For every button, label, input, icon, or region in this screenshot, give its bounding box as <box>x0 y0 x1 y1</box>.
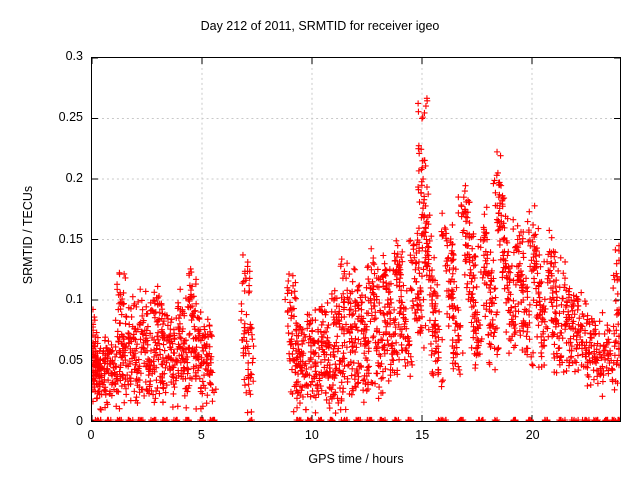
data-point-marker <box>361 399 367 405</box>
data-point-marker <box>355 288 361 294</box>
data-point-marker <box>449 222 455 228</box>
data-point-marker <box>292 288 298 294</box>
data-point-marker <box>479 417 485 421</box>
data-point-marker <box>457 371 463 377</box>
data-point-marker <box>497 242 503 248</box>
data-point-marker <box>246 350 252 356</box>
data-point-marker <box>464 215 470 221</box>
data-point-marker <box>324 335 330 341</box>
data-point-marker <box>183 405 189 411</box>
data-point-marker <box>443 268 449 274</box>
data-point-marker <box>388 300 394 306</box>
data-point-marker <box>575 367 581 373</box>
data-point-marker <box>490 180 496 186</box>
data-point-marker <box>294 405 300 411</box>
data-point-marker <box>495 228 501 234</box>
data-point-marker <box>427 317 433 323</box>
data-point-marker <box>105 417 111 421</box>
data-point-marker <box>419 115 425 121</box>
data-point-marker <box>492 285 498 291</box>
data-point-marker <box>462 188 468 194</box>
data-point-marker <box>349 372 355 378</box>
data-point-marker <box>350 279 356 285</box>
data-point-marker <box>415 100 421 106</box>
data-point-marker <box>196 315 202 321</box>
data-point-marker <box>492 295 498 301</box>
data-point-marker <box>420 176 426 182</box>
data-point-marker <box>436 309 442 315</box>
data-point-marker <box>241 331 247 337</box>
data-point-marker <box>245 409 251 415</box>
data-point-marker <box>573 359 579 365</box>
data-point-marker <box>612 247 618 253</box>
data-point-marker <box>102 334 108 340</box>
data-point-marker <box>432 317 438 323</box>
data-point-marker <box>116 271 122 277</box>
data-point-marker <box>487 289 493 295</box>
data-point-marker <box>355 284 361 290</box>
data-point-marker <box>114 281 120 287</box>
y-axis-label: SRMTID / TECUs <box>21 155 35 315</box>
data-point-marker <box>531 276 537 282</box>
data-point-marker <box>551 341 557 347</box>
data-point-marker <box>507 270 513 276</box>
data-point-marker <box>524 288 530 294</box>
data-point-marker <box>592 322 598 328</box>
y-tick-label: 0 <box>13 414 83 428</box>
data-point-marker <box>458 202 464 208</box>
data-point-marker <box>591 367 597 373</box>
data-point-marker <box>536 364 542 370</box>
data-point-marker <box>530 362 536 368</box>
data-point-marker <box>369 279 375 285</box>
data-point-marker <box>202 385 208 391</box>
data-point-marker <box>372 303 378 309</box>
data-point-marker <box>533 302 539 308</box>
data-point-marker <box>527 237 533 243</box>
data-point-marker <box>578 290 584 296</box>
data-point-marker <box>249 336 255 342</box>
data-point-marker <box>248 409 254 415</box>
data-point-marker <box>243 311 249 317</box>
data-point-marker <box>97 406 103 412</box>
data-point-marker <box>526 209 532 215</box>
data-point-marker <box>396 357 402 363</box>
data-point-marker <box>170 391 176 397</box>
data-point-marker <box>113 317 119 323</box>
data-point-marker <box>285 323 291 329</box>
data-point-marker <box>352 267 358 273</box>
data-point-marker <box>201 372 207 378</box>
data-point-marker <box>575 307 581 313</box>
data-point-marker <box>450 251 456 257</box>
data-point-marker <box>588 382 594 388</box>
data-point-marker <box>520 328 526 334</box>
data-point-marker <box>393 238 399 244</box>
data-point-marker <box>584 383 590 389</box>
data-point-marker <box>285 330 291 336</box>
x-tick-label: 5 <box>181 428 221 442</box>
data-point-marker <box>339 379 345 385</box>
data-point-marker <box>444 242 450 248</box>
data-point-marker <box>541 259 547 265</box>
data-point-marker <box>515 308 521 314</box>
data-point-marker <box>294 395 300 401</box>
data-point-marker <box>550 290 556 296</box>
data-point-marker <box>358 307 364 313</box>
data-point-marker <box>446 323 452 329</box>
data-point-marker <box>292 295 298 301</box>
data-point-marker <box>168 319 174 325</box>
data-point-marker <box>386 378 392 384</box>
data-point-marker <box>112 354 118 360</box>
data-point-marker <box>332 288 338 294</box>
data-point-marker <box>510 226 516 232</box>
data-point-marker <box>562 259 568 265</box>
data-point-marker <box>609 367 615 373</box>
data-point-marker <box>616 243 620 249</box>
data-point-marker <box>526 336 532 342</box>
data-point-marker <box>602 331 608 337</box>
data-point-marker <box>387 266 393 272</box>
data-point-marker <box>469 246 475 252</box>
data-point-marker <box>506 350 512 356</box>
data-point-marker <box>396 310 402 316</box>
data-point-marker <box>282 296 288 302</box>
data-point-marker <box>442 225 448 231</box>
data-point-marker <box>334 333 340 339</box>
data-point-marker <box>599 310 605 316</box>
data-point-marker <box>320 334 326 340</box>
data-point-marker <box>402 356 408 362</box>
data-point-marker <box>198 309 204 315</box>
data-point-marker <box>250 343 256 349</box>
data-point-marker <box>520 254 526 260</box>
chart-page: Day 212 of 2011, SRMTID for receiver ige… <box>0 0 640 480</box>
data-point-marker <box>558 255 564 261</box>
data-point-marker <box>284 290 290 296</box>
data-point-marker <box>187 331 193 337</box>
data-point-marker <box>482 313 488 319</box>
data-point-marker <box>143 288 149 294</box>
data-point-marker <box>549 235 555 241</box>
data-point-marker <box>351 266 357 272</box>
data-point-marker <box>289 366 295 372</box>
data-point-marker <box>92 398 96 404</box>
data-point-marker <box>552 260 558 266</box>
data-point-marker <box>497 153 503 159</box>
data-point-marker <box>146 372 152 378</box>
data-point-marker <box>572 368 578 374</box>
data-point-marker <box>160 341 166 347</box>
plot-area <box>91 57 621 422</box>
data-point-marker <box>160 399 166 405</box>
data-point-marker <box>392 316 398 322</box>
data-point-marker <box>466 220 472 226</box>
data-point-marker <box>155 322 161 328</box>
data-point-marker <box>319 322 325 328</box>
data-point-marker <box>509 263 515 269</box>
data-point-marker <box>416 225 422 231</box>
data-point-marker <box>151 289 157 295</box>
data-point-marker <box>238 317 244 323</box>
data-point-marker <box>583 301 589 307</box>
data-point-marker <box>439 210 445 216</box>
data-point-marker <box>177 334 183 340</box>
data-point-marker <box>613 298 619 304</box>
data-point-marker <box>436 355 442 361</box>
data-point-marker <box>249 372 255 378</box>
data-point-marker <box>143 304 149 310</box>
data-point-marker <box>389 357 395 363</box>
data-point-marker <box>312 317 318 323</box>
data-point-marker <box>597 318 603 324</box>
data-point-marker <box>551 254 557 260</box>
data-point-marker <box>137 286 143 292</box>
data-point-marker <box>382 304 388 310</box>
data-point-marker <box>398 342 404 348</box>
data-point-marker <box>238 301 244 307</box>
data-point-marker <box>138 417 144 421</box>
y-tick-label: 0.05 <box>13 353 83 367</box>
data-point-marker <box>523 333 529 339</box>
data-point-marker <box>376 395 382 401</box>
data-point-marker <box>250 355 256 361</box>
data-point-marker <box>340 389 346 395</box>
data-point-marker <box>121 400 127 406</box>
data-point-marker <box>193 276 199 282</box>
data-point-marker <box>247 321 253 327</box>
data-point-marker <box>503 329 509 335</box>
data-point-marker <box>481 211 487 217</box>
data-point-marker <box>94 396 100 402</box>
data-point-marker <box>491 286 497 292</box>
data-point-marker <box>460 350 466 356</box>
data-point-marker <box>380 375 386 381</box>
data-point-marker <box>604 322 610 328</box>
data-point-marker <box>382 261 388 267</box>
data-point-marker <box>500 236 506 242</box>
data-point-marker <box>530 222 536 228</box>
data-point-marker <box>186 332 192 338</box>
data-point-marker <box>204 400 210 406</box>
data-point-marker <box>515 223 521 229</box>
data-point-marker <box>360 387 366 393</box>
data-point-marker <box>616 352 620 358</box>
data-point-marker <box>510 217 516 223</box>
data-point-marker <box>130 294 136 300</box>
data-point-marker <box>612 339 618 345</box>
data-point-marker <box>324 300 330 306</box>
data-point-marker <box>373 370 379 376</box>
data-point-marker <box>365 263 371 269</box>
data-point-marker <box>343 406 349 412</box>
data-point-marker <box>471 263 477 269</box>
data-point-marker <box>151 399 157 405</box>
data-point-marker <box>145 324 151 330</box>
data-point-marker <box>397 305 403 311</box>
data-point-marker <box>308 355 314 361</box>
data-point-marker <box>329 309 335 315</box>
data-point-marker <box>129 314 135 320</box>
x-tick-label: 0 <box>71 428 111 442</box>
data-point-marker <box>206 322 212 328</box>
x-axis-label: GPS time / hours <box>91 452 621 466</box>
data-point-marker <box>535 226 541 232</box>
data-point-marker <box>240 252 246 258</box>
data-point-marker <box>591 377 597 383</box>
data-point-marker <box>384 337 390 343</box>
data-point-marker <box>119 383 125 389</box>
data-point-marker <box>92 306 96 312</box>
data-point-marker <box>246 288 252 294</box>
data-point-marker <box>285 278 291 284</box>
data-point-marker <box>122 275 128 281</box>
data-point-marker <box>320 319 326 325</box>
data-point-marker <box>325 322 331 328</box>
data-point-marker <box>594 417 600 421</box>
data-point-marker <box>242 382 248 388</box>
data-point-marker <box>450 271 456 277</box>
data-point-marker <box>249 360 255 366</box>
data-point-marker <box>188 287 194 293</box>
data-point-marker <box>532 203 538 209</box>
data-point-marker <box>246 283 252 289</box>
data-point-marker <box>487 282 493 288</box>
data-point-marker <box>105 338 111 344</box>
data-point-marker <box>584 365 590 371</box>
data-point-marker <box>474 284 480 290</box>
data-point-marker <box>339 256 345 262</box>
data-point-marker <box>380 252 386 258</box>
data-point-marker <box>154 385 160 391</box>
data-point-marker <box>157 346 163 352</box>
data-point-marker <box>171 384 177 390</box>
data-point-marker <box>368 246 374 252</box>
data-point-marker <box>202 326 208 332</box>
data-point-marker <box>378 376 384 382</box>
data-point-marker <box>472 365 478 371</box>
data-point-marker <box>428 341 434 347</box>
data-point-marker <box>246 381 252 387</box>
data-point-marker <box>200 378 206 384</box>
data-point-marker <box>160 321 166 327</box>
data-point-marker <box>247 391 253 397</box>
data-point-marker <box>547 296 553 302</box>
data-point-marker <box>419 245 425 251</box>
data-point-marker <box>324 325 330 331</box>
data-point-marker <box>494 149 500 155</box>
data-point-marker <box>480 275 486 281</box>
data-point-marker <box>421 345 427 351</box>
data-point-marker <box>291 409 297 415</box>
data-point-marker <box>409 287 415 293</box>
data-point-marker <box>158 361 164 367</box>
data-point-marker <box>529 361 535 367</box>
data-point-marker <box>344 287 350 293</box>
data-point-marker <box>447 279 453 285</box>
data-point-marker <box>126 417 132 421</box>
data-point-marker <box>209 398 215 404</box>
data-point-marker <box>611 387 617 393</box>
data-point-marker <box>329 291 335 297</box>
data-point-marker <box>555 345 561 351</box>
data-point-marker <box>485 331 491 337</box>
data-point-marker <box>596 331 602 337</box>
data-point-marker <box>616 346 620 352</box>
data-point-marker <box>131 388 137 394</box>
data-point-marker <box>104 367 110 373</box>
x-tick-label: 10 <box>292 428 332 442</box>
data-point-marker <box>534 270 540 276</box>
data-point-marker <box>303 407 309 413</box>
data-point-marker <box>486 341 492 347</box>
x-tick-label: 20 <box>513 428 553 442</box>
data-point-marker <box>332 410 338 416</box>
data-point-marker <box>311 350 317 356</box>
data-point-marker <box>552 309 558 315</box>
data-point-marker <box>431 255 437 261</box>
data-point-marker <box>376 384 382 390</box>
data-point-marker <box>456 367 462 373</box>
data-point-marker <box>455 194 461 200</box>
data-point-marker <box>147 378 153 384</box>
data-point-marker <box>553 288 559 294</box>
data-point-marker <box>332 361 338 367</box>
data-point-marker <box>517 332 523 338</box>
data-point-marker <box>582 298 588 304</box>
data-point-marker <box>470 285 476 291</box>
data-point-marker <box>297 400 303 406</box>
data-point-marker <box>610 285 616 291</box>
data-point-marker <box>123 391 129 397</box>
data-point-marker <box>188 266 194 272</box>
data-point-marker <box>539 354 545 360</box>
data-point-marker <box>428 285 434 291</box>
data-point-marker <box>550 303 556 309</box>
data-point-marker <box>470 334 476 340</box>
data-point-marker <box>312 410 318 416</box>
data-point-marker <box>615 291 620 297</box>
data-point-marker <box>599 393 605 399</box>
data-point-marker <box>563 368 569 374</box>
data-point-marker <box>415 109 421 115</box>
data-point-marker <box>467 267 473 273</box>
data-point-marker <box>561 369 567 375</box>
data-point-marker <box>344 379 350 385</box>
data-point-marker <box>420 297 426 303</box>
data-point-marker <box>287 299 293 305</box>
data-point-marker <box>370 333 376 339</box>
data-point-marker <box>525 218 531 224</box>
data-point-marker <box>408 359 414 365</box>
data-point-marker <box>544 325 550 331</box>
data-point-marker <box>469 345 475 351</box>
data-point-marker <box>344 260 350 266</box>
y-tick-label: 0.3 <box>13 49 83 63</box>
data-point-marker <box>546 227 552 233</box>
data-point-marker <box>340 275 346 281</box>
data-point-marker <box>560 335 566 341</box>
data-point-marker <box>395 242 401 248</box>
data-point-marker <box>467 259 473 265</box>
data-point-marker <box>139 297 145 303</box>
data-point-marker <box>154 333 160 339</box>
data-point-marker <box>490 257 496 263</box>
data-point-marker <box>289 351 295 357</box>
data-point-marker <box>423 103 429 109</box>
data-point-marker <box>463 218 469 224</box>
